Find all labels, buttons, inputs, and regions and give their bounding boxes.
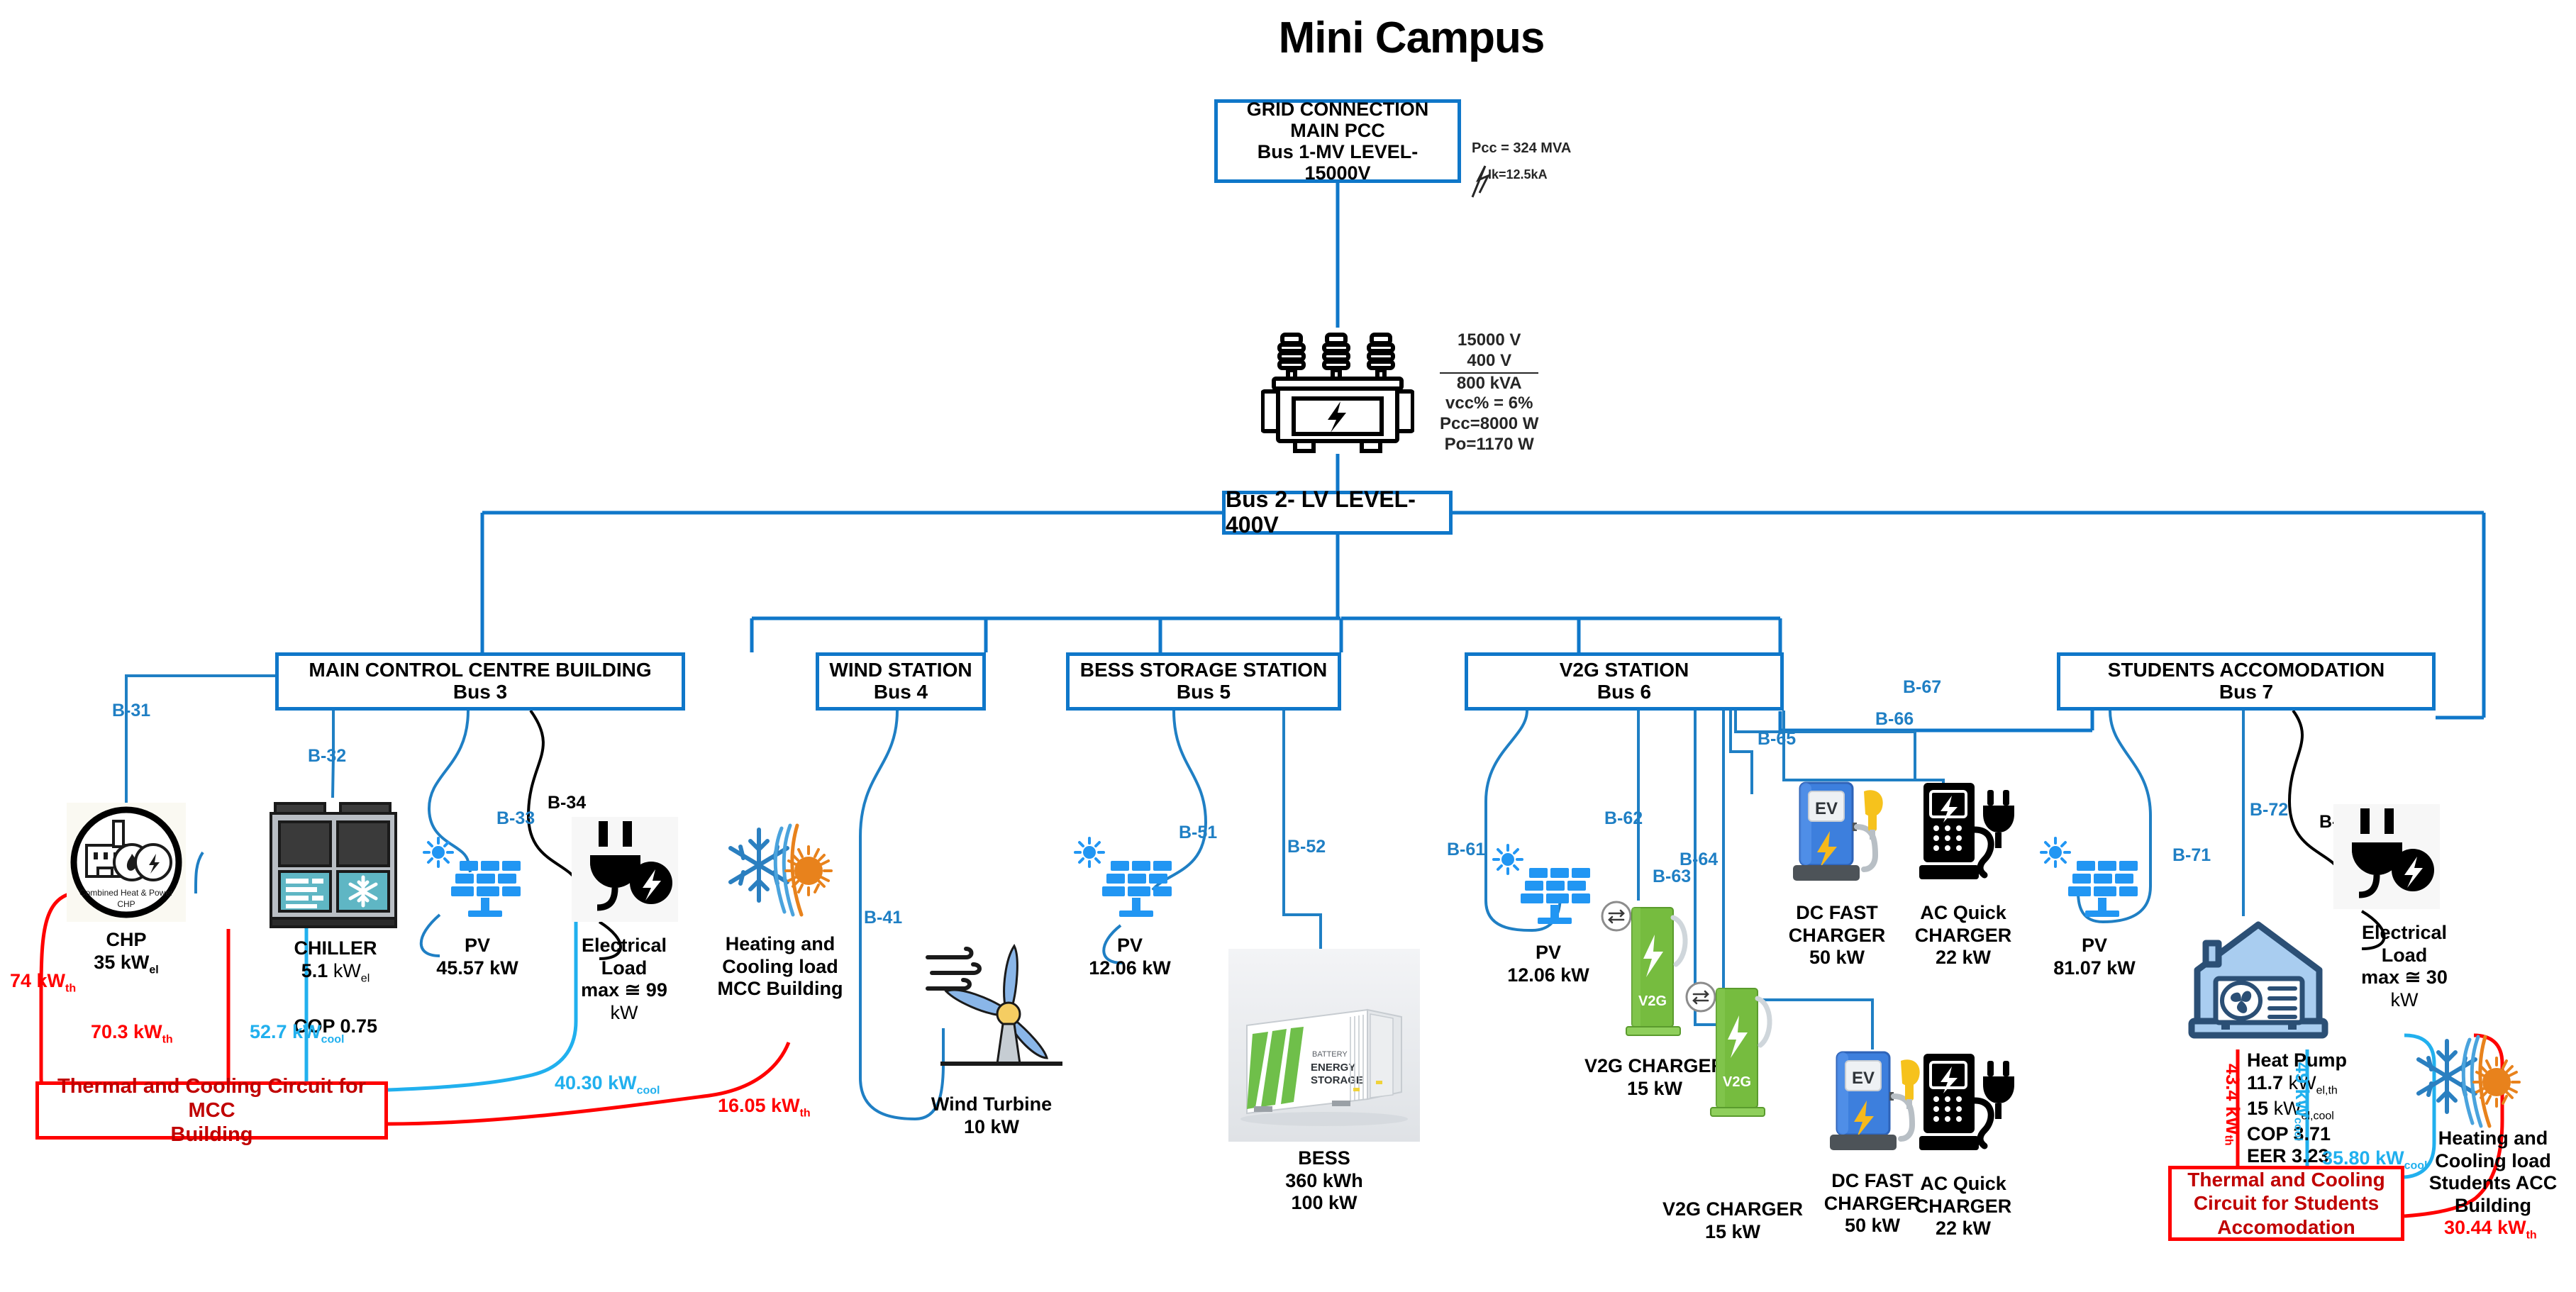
pv-acc-name: PV: [2027, 935, 2162, 957]
load-acc-unit: kW: [2341, 989, 2468, 1012]
chp-rating: 35 kW: [94, 952, 149, 973]
load-acc-value: max ≅ 30: [2341, 967, 2468, 989]
dc-fast-1-caption: DC FAST CHARGER 50 kW: [1766, 902, 1908, 969]
mcc-circuit-l1: Thermal and Cooling Circuit for MCC: [57, 1075, 366, 1122]
pv-panel-icon: [1070, 837, 1183, 929]
fault-arrow-icon: [1470, 162, 1494, 199]
flow-acc-thermal: 30.44 kWth: [2444, 1217, 2537, 1242]
hc-mcc-l1: Heating and: [709, 933, 851, 956]
acquick1-l1: AC Quick: [1892, 902, 2034, 925]
flow-hp-cooling: 49 kWcool: [2291, 1062, 2313, 1141]
breaker-label-b72: B-72: [2250, 800, 2288, 820]
ev-badge-2: EV: [1852, 1069, 1875, 1088]
page-title: Mini Campus: [1163, 13, 1660, 63]
heating-cooling-load-icon: [2411, 1028, 2525, 1135]
ac-quick-charger-icon[interactable]: [1908, 779, 2021, 892]
breaker-label-b31: B-31: [112, 701, 150, 721]
wind-turbine-caption: Wind Turbine 10 kW: [899, 1093, 1084, 1138]
electrical-load-icon: [2333, 804, 2440, 909]
pv-bess-name: PV: [1062, 935, 1197, 957]
hc-mcc-l2: Cooling load: [709, 956, 851, 979]
ac-quick-1-caption: AC Quick CHARGER 22 kW: [1892, 902, 2034, 969]
grid-connection-box[interactable]: GRID CONNECTION MAIN PCC Bus 1-MV LEVEL-…: [1214, 99, 1461, 183]
v2g-badge-1: V2G: [1638, 993, 1667, 1009]
flow-hp-thermal: 43.4 kWth: [2221, 1064, 2243, 1146]
v2g-charger-icon[interactable]: V2G: [1684, 980, 1783, 1122]
short-circuit-current-note: Ik=12.5kA: [1488, 167, 1548, 182]
tx-pcc: Pcc=8000 W: [1440, 414, 1538, 435]
load-mcc-l1: Electrical: [560, 935, 688, 957]
breaker-label-b67: B-67: [1903, 677, 1941, 698]
hp-name: Heat Pump: [2247, 1049, 2403, 1072]
load-acc-l1: Electrical: [2341, 922, 2468, 945]
chiller-caption: CHILLER 5.1 kWel: [268, 937, 403, 986]
station-students-accomodation[interactable]: STUDENTS ACCOMODATION Bus 7: [2057, 652, 2436, 711]
hc-load-mcc-caption: Heating and Cooling load MCC Building: [709, 933, 851, 1001]
hp-cop: COP 3.71: [2247, 1123, 2403, 1146]
station-name: WIND STATION: [829, 659, 972, 681]
chp-name: CHP: [62, 929, 190, 952]
acc-circuit-l3: Accomodation: [2187, 1215, 2385, 1239]
v2g2-name: V2G CHARGER: [1644, 1198, 1821, 1221]
pv-panel-icon: [2036, 837, 2149, 929]
electrical-load-mcc-caption: Electrical Load max ≅ 99 kW: [560, 935, 688, 1024]
bess-img-text-3: STORAGE: [1311, 1074, 1363, 1086]
ac-quick-charger-icon[interactable]: [1908, 1049, 2021, 1163]
pv-v2g-name: PV: [1481, 942, 1616, 964]
chiller-icon: [262, 798, 404, 932]
diagram-canvas: Mini Campus GRID CONNECTION MAIN PCC Bus…: [0, 0, 2576, 1292]
thermal-cooling-circuit-acc[interactable]: Thermal and Cooling Circuit for Students…: [2168, 1166, 2404, 1241]
load-acc-l2: Load: [2341, 945, 2468, 967]
bess-container-image: BATTERY ENERGY STORAGE: [1228, 949, 1420, 1142]
tx-vcc: vcc% = 6%: [1440, 394, 1538, 414]
load-mcc-value: max ≅ 99: [560, 979, 688, 1002]
station-main-control-centre[interactable]: MAIN CONTROL CENTRE BUILDING Bus 3: [275, 652, 685, 711]
bus2-label: Bus 2- LV LEVEL- 400V: [1226, 487, 1449, 538]
chp-rating-sub: el: [149, 964, 158, 976]
station-bus: Bus 5: [1177, 681, 1231, 703]
hc-acc-l4: Building: [2411, 1195, 2575, 1218]
pv-bess-caption: PV 12.06 kW: [1062, 935, 1197, 979]
grid-line-1: GRID CONNECTION: [1247, 99, 1429, 120]
hc-load-acc-caption: Heating and Cooling load Students ACC Bu…: [2411, 1127, 2575, 1217]
bess-name: BESS: [1250, 1147, 1399, 1170]
station-bus: Bus 3: [453, 681, 507, 703]
pv-mcc-rating: 45.57 kW: [410, 957, 545, 980]
wind-turbine-icon: [922, 936, 1064, 1071]
station-bus: Bus 7: [2219, 681, 2273, 703]
station-name: MAIN CONTROL CENTRE BUILDING: [309, 659, 651, 681]
acquick2-l1: AC Quick: [1892, 1173, 2034, 1196]
breaker-label-b64: B-64: [1680, 850, 1718, 870]
pv-panel-icon: [1488, 844, 1601, 936]
station-bus: Bus 4: [874, 681, 928, 703]
hp-el-cool: 15: [2247, 1098, 2268, 1119]
breaker-label-b41: B-41: [864, 908, 902, 928]
flow-mcc-cooling: 40.30 kWcool: [555, 1072, 660, 1097]
chp-caption: CHP 35 kWel: [62, 929, 190, 977]
bess-img-text-1: BATTERY: [1312, 1050, 1348, 1059]
tx-primary-voltage: 15000 V: [1440, 330, 1538, 351]
ac-quick-2-caption: AC Quick CHARGER 22 kW: [1892, 1173, 2034, 1240]
pv-v2g-rating: 12.06 kW: [1481, 964, 1616, 987]
bess-caption: BESS 360 kWh 100 kW: [1250, 1147, 1399, 1215]
heat-pump-icon: [2184, 915, 2332, 1049]
bess-energy: 360 kWh: [1250, 1170, 1399, 1193]
chiller-el-sub: el: [361, 972, 370, 984]
load-mcc-unit: kW: [560, 1002, 688, 1025]
acquick2-rating: 22 kW: [1892, 1218, 2034, 1240]
bess-power: 100 kW: [1250, 1192, 1399, 1215]
tx-po: Po=1170 W: [1440, 435, 1538, 455]
thermal-cooling-circuit-mcc[interactable]: Thermal and Cooling Circuit for MCC Buil…: [35, 1081, 388, 1140]
v2g-charger-2-caption: V2G CHARGER 15 kW: [1644, 1198, 1821, 1243]
pcc-rating-note: Pcc = 324 MVA: [1472, 140, 1571, 157]
breaker-label-b33: B-33: [496, 808, 535, 829]
electrical-load-acc-caption: Electrical Load max ≅ 30 kW: [2341, 922, 2468, 1011]
wind-rating: 10 kW: [899, 1116, 1084, 1139]
flow-chp-thermal: 74 kWth: [10, 970, 76, 995]
acquick2-l2: CHARGER: [1892, 1196, 2034, 1218]
breaker-label-b62: B-62: [1604, 808, 1643, 829]
breaker-label-b52: B-52: [1287, 837, 1326, 857]
breaker-label-b32: B-32: [308, 746, 346, 767]
breaker-label-b65: B-65: [1758, 729, 1796, 750]
acquick1-l2: CHARGER: [1892, 925, 2034, 947]
acc-circuit-l2: Circuit for Students: [2187, 1191, 2385, 1215]
station-wind[interactable]: WIND STATION Bus 4: [816, 652, 986, 711]
station-v2g[interactable]: V2G STATION Bus 6: [1465, 652, 1784, 711]
breaker-label-b61: B-61: [1447, 840, 1485, 860]
ev-badge-1: EV: [1815, 799, 1838, 818]
flow-chiller-thermal: 70.3 kWth: [91, 1021, 173, 1046]
svg-text:CHP: CHP: [117, 899, 135, 909]
tx-secondary-voltage: 400 V: [1440, 351, 1538, 372]
acquick1-rating: 22 kW: [1892, 947, 2034, 969]
chp-icon: Combined Heat & Power CHP: [67, 803, 186, 922]
bus-2-lv[interactable]: Bus 2- LV LEVEL- 400V: [1222, 491, 1453, 535]
chiller-name: CHILLER: [268, 937, 403, 960]
station-name: BESS STORAGE STATION: [1080, 659, 1327, 681]
grid-line-3: Bus 1-MV LEVEL-: [1258, 141, 1419, 162]
chiller-el-value: 5.1: [301, 960, 328, 981]
pv-acc-rating: 81.07 kW: [2027, 957, 2162, 980]
chiller-el-unit: kW: [333, 960, 361, 981]
breaker-label-b51: B-51: [1179, 823, 1217, 843]
breaker-label-b71: B-71: [2172, 845, 2211, 866]
flow-mcc-thermal: 16.05 kWth: [718, 1095, 811, 1120]
grid-line-4: 15000V: [1304, 162, 1370, 184]
grid-line-2: MAIN PCC: [1290, 120, 1385, 141]
dc-fast-charger-icon[interactable]: EV: [1779, 779, 1892, 892]
flow-chiller-cooling: 52.7 kWcool: [250, 1021, 344, 1046]
wind-name: Wind Turbine: [899, 1093, 1084, 1116]
dcfast1-l2: CHARGER: [1766, 925, 1908, 947]
dcfast1-l1: DC FAST: [1766, 902, 1908, 925]
hc-acc-l1: Heating and: [2411, 1127, 2575, 1150]
tx-rating: 800 kVA: [1440, 374, 1538, 394]
transformer-ratings: 15000 V 400 V 800 kVA vcc% = 6% Pcc=8000…: [1440, 330, 1538, 455]
svg-text:Combined Heat & Power: Combined Heat & Power: [79, 888, 173, 898]
hc-mcc-l3: MCC Building: [709, 978, 851, 1001]
pv-acc-caption: PV 81.07 kW: [2027, 935, 2162, 979]
breaker-label-b34: B-34: [548, 793, 586, 813]
pv-mcc-name: PV: [410, 935, 545, 957]
v2g-badge-2: V2G: [1723, 1074, 1751, 1090]
hc-acc-l3: Students ACC: [2411, 1172, 2575, 1195]
acc-circuit-l1: Thermal and Cooling: [2187, 1168, 2385, 1191]
pv-v2g-caption: PV 12.06 kW: [1481, 942, 1616, 986]
hp-el-th-sub: el,th: [2316, 1084, 2338, 1096]
pv-mcc-caption: PV 45.57 kW: [410, 935, 545, 979]
breaker-label-b66: B-66: [1875, 709, 1914, 730]
bess-img-text-2: ENERGY: [1311, 1062, 1355, 1074]
transformer-icon: [1261, 328, 1414, 454]
heating-cooling-load-icon: [723, 817, 837, 923]
load-mcc-l2: Load: [560, 957, 688, 980]
station-bess[interactable]: BESS STORAGE STATION Bus 5: [1066, 652, 1341, 711]
electrical-load-icon: [572, 817, 678, 922]
pv-bess-rating: 12.06 kW: [1062, 957, 1197, 980]
hp-el-th: 11.7: [2247, 1072, 2283, 1093]
station-name: V2G STATION: [1560, 659, 1689, 681]
v2g2-rating: 15 kW: [1644, 1221, 1821, 1244]
station-name: STUDENTS ACCOMODATION: [2108, 659, 2385, 681]
mcc-circuit-l2: Building: [45, 1123, 379, 1147]
hc-acc-l2: Cooling load: [2411, 1150, 2575, 1173]
dcfast1-rating: 50 kW: [1766, 947, 1908, 969]
station-bus: Bus 6: [1597, 681, 1651, 703]
pv-panel-icon: [418, 837, 532, 929]
